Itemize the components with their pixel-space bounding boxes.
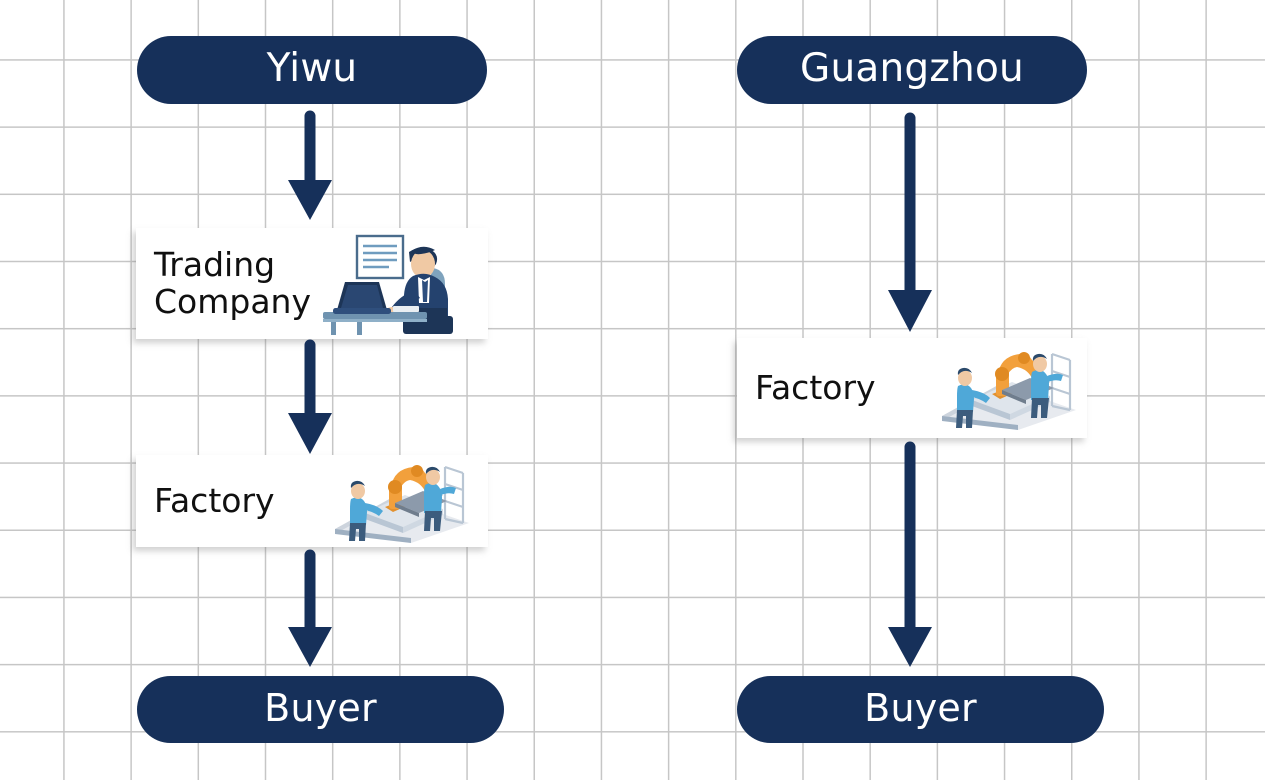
arrow-factory-to-buyer-yiwu xyxy=(287,549,333,669)
node-buyer-yiwu[interactable]: Buyer xyxy=(137,676,504,743)
diagram-canvas: Yiwu Trading Company xyxy=(0,0,1265,780)
arrow-guangzhou-to-factory xyxy=(887,112,933,334)
robot-arm-factory-icon xyxy=(327,457,477,545)
node-buyer-guangzhou-label: Buyer xyxy=(864,689,977,730)
arrow-trading-company-to-factory xyxy=(287,339,333,457)
card-trading-company-label: Trading Company xyxy=(154,247,311,321)
businessman-at-desk-icon xyxy=(317,232,469,336)
card-trading-company[interactable]: Trading Company xyxy=(136,228,488,339)
node-guangzhou[interactable]: Guangzhou xyxy=(737,36,1087,104)
card-factory-guangzhou-label: Factory xyxy=(755,370,876,407)
node-buyer-guangzhou[interactable]: Buyer xyxy=(737,676,1104,743)
arrow-yiwu-to-trading-company xyxy=(287,110,333,222)
node-yiwu-label: Yiwu xyxy=(267,49,358,91)
card-factory-yiwu-label: Factory xyxy=(154,483,275,520)
card-factory-yiwu[interactable]: Factory xyxy=(136,455,488,547)
node-guangzhou-label: Guangzhou xyxy=(800,49,1024,91)
card-factory-guangzhou[interactable]: Factory xyxy=(737,338,1087,438)
robot-arm-factory-icon xyxy=(934,342,1084,434)
arrow-factory-to-buyer-guangzhou xyxy=(887,441,933,669)
node-buyer-yiwu-label: Buyer xyxy=(264,689,377,730)
node-yiwu[interactable]: Yiwu xyxy=(137,36,487,104)
